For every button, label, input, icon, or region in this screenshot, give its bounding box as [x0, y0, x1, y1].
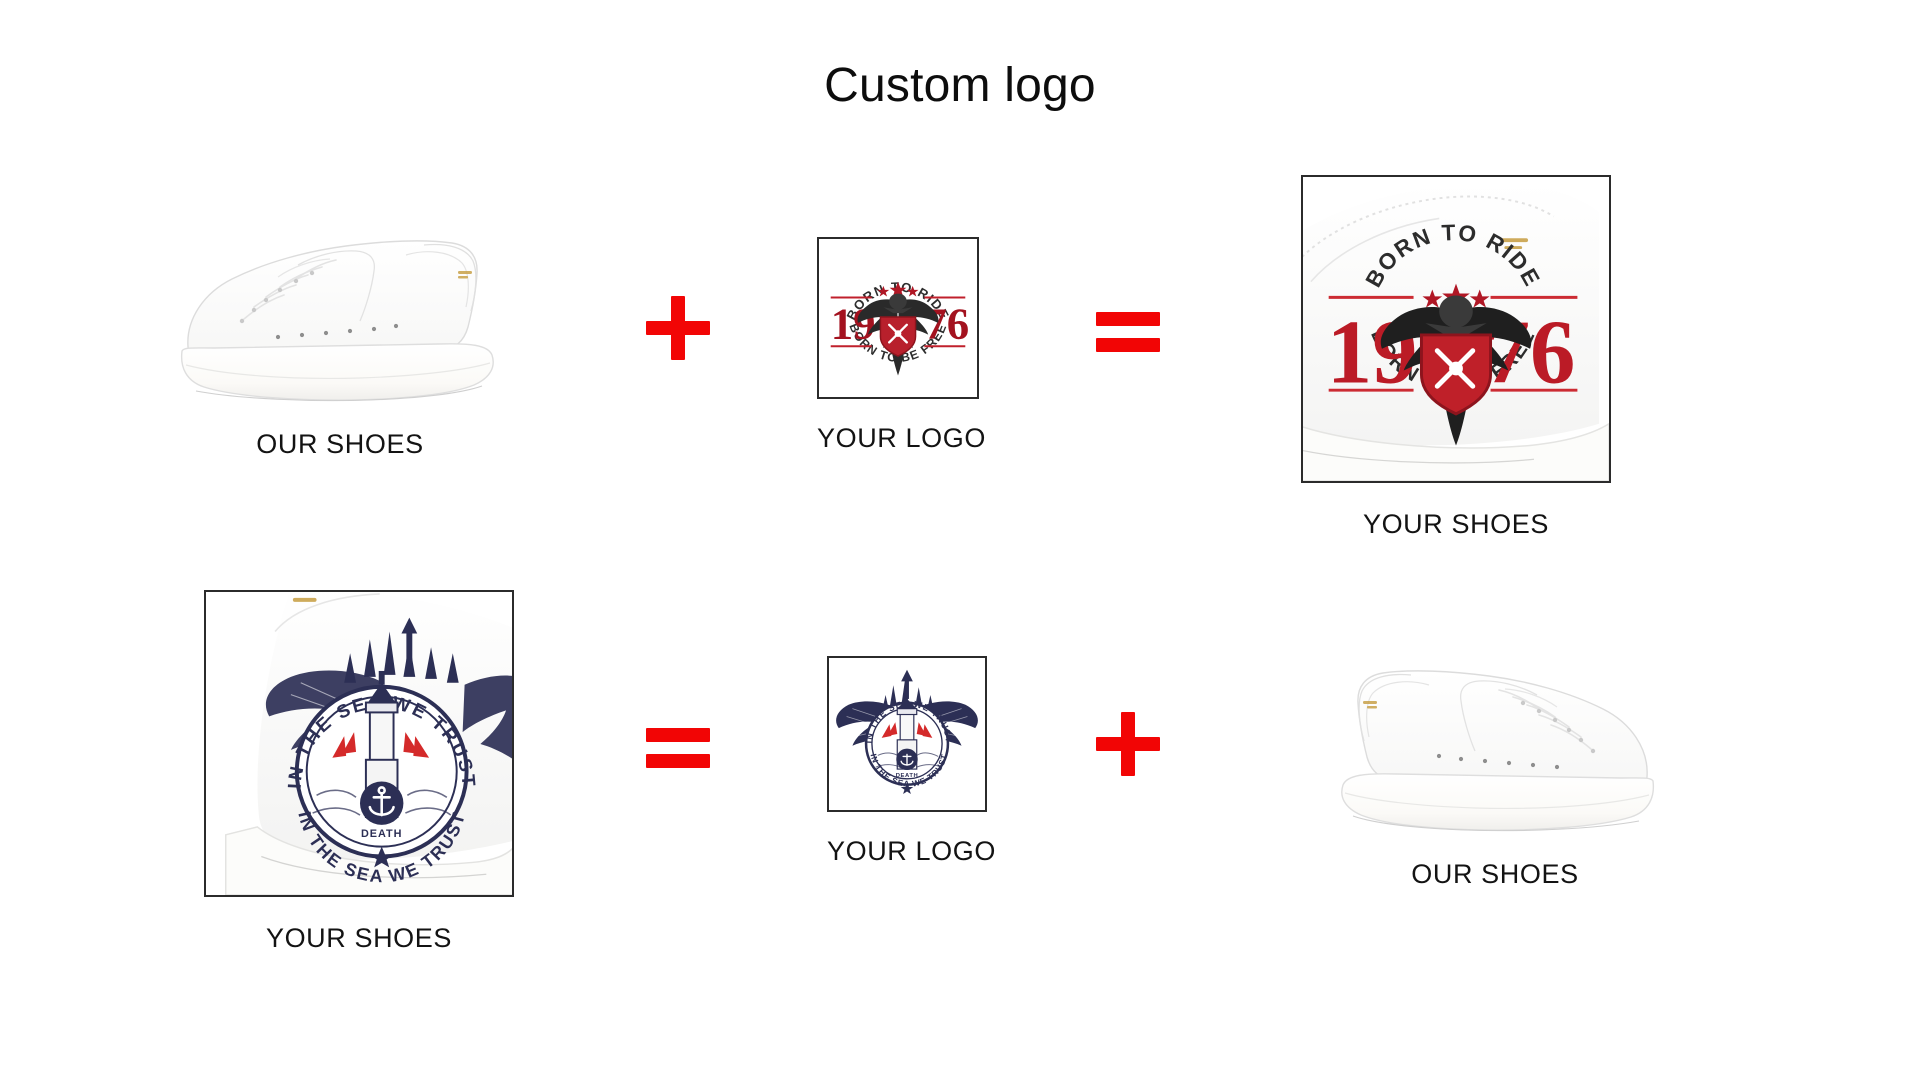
row2-our-shoes-cell: OUR SHOES: [1310, 645, 1680, 890]
caption-your-logo-1: YOUR LOGO: [817, 423, 979, 454]
shoe-image-our-shoes-2: [1310, 645, 1680, 835]
shoe-frame-printed-eagle: BORN TO RIDE BORN TO BE FREE 19 76: [1301, 175, 1611, 483]
equals-bottom-bar: [1096, 338, 1160, 352]
caption-your-shoes-1: YOUR SHOES: [1301, 509, 1611, 540]
row1-our-shoes-cell: OUR SHOES: [170, 215, 510, 460]
operator-equals-row1: [1096, 296, 1160, 360]
plus-vertical-bar: [671, 296, 685, 360]
logo-artwork-wings: IN THE SEA WE TRUST IN THE SEA WE TRUST: [829, 658, 985, 810]
caption-our-shoes-2: OUR SHOES: [1310, 859, 1680, 890]
logo-frame-wings: IN THE SEA WE TRUST IN THE SEA WE TRUST: [827, 656, 987, 812]
row2-your-logo-cell: IN THE SEA WE TRUST IN THE SEA WE TRUST: [827, 656, 987, 867]
operator-equals-row2: [646, 712, 710, 776]
caption-your-logo-2: YOUR LOGO: [827, 836, 987, 867]
shoe-image-your-shoes-eagle: BORN TO RIDE BORN TO BE FREE 19 76: [1303, 177, 1609, 481]
shoe-image-your-shoes-wings: IN THE SEA WE TRUST IN THE SEA WE TRUST: [206, 592, 512, 895]
logo-artwork-eagle: BORN TO RIDE BORN TO BE FREE 19 76: [819, 239, 977, 397]
operator-plus-row2: [1096, 712, 1160, 776]
shoe-frame-printed-wings: IN THE SEA WE TRUST IN THE SEA WE TRUST: [204, 590, 514, 897]
shoe-image-our-shoes-1: [170, 215, 510, 405]
caption-our-shoes-1: OUR SHOES: [170, 429, 510, 460]
caption-your-shoes-2: YOUR SHOES: [204, 923, 514, 954]
operator-plus-row1: [646, 296, 710, 360]
row1-your-logo-cell: BORN TO RIDE BORN TO BE FREE 19 76: [817, 237, 979, 454]
svg-text:76: 76: [924, 298, 969, 348]
page-title: Custom logo: [0, 58, 1920, 113]
svg-text:DEATH: DEATH: [896, 773, 919, 779]
logo-frame-eagle: BORN TO RIDE BORN TO BE FREE 19 76: [817, 237, 979, 399]
row2-your-shoes-cell: IN THE SEA WE TRUST IN THE SEA WE TRUST: [204, 590, 514, 954]
equals-top-bar: [1096, 312, 1160, 326]
equals-bottom-bar: [646, 754, 710, 768]
equals-top-bar: [646, 728, 710, 742]
svg-text:DEATH: DEATH: [361, 828, 402, 840]
plus-vertical-bar: [1121, 712, 1135, 776]
row1-your-shoes-cell: BORN TO RIDE BORN TO BE FREE 19 76: [1301, 175, 1611, 540]
